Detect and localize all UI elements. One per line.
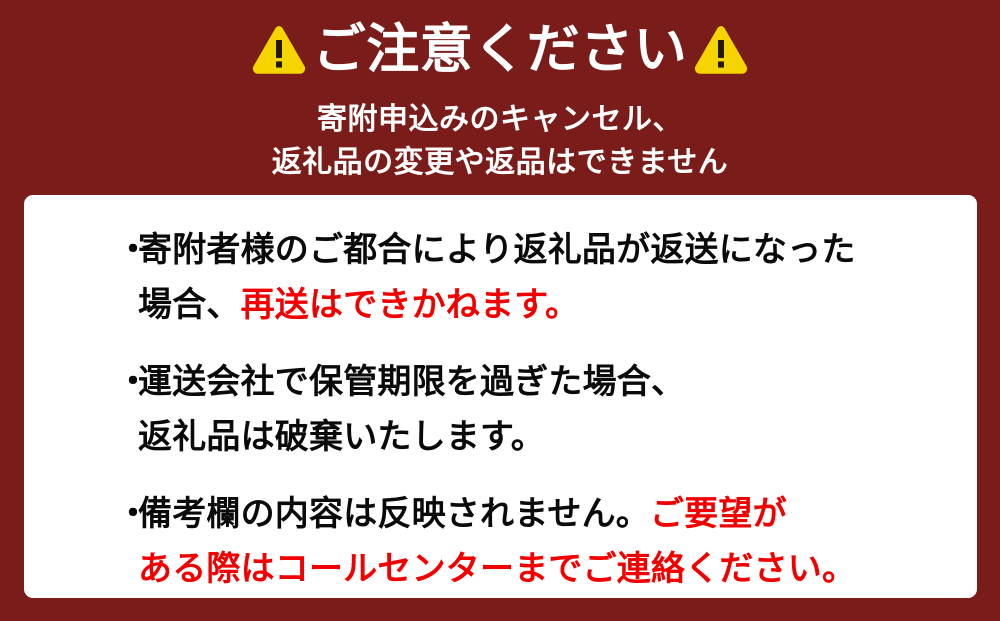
subtitle-line: 寄附申込みのキャンセル、	[0, 98, 1000, 141]
note-text-emphasis: ある際はコールセンターまでご連絡ください。	[138, 550, 856, 588]
note-text: 場合、	[138, 286, 241, 324]
note-line: 寄附者様のご都合により返礼品が返送になった	[138, 223, 937, 278]
subtitle-line: 返礼品の変更や返品はできません	[0, 141, 1000, 184]
bullet-marker: ・	[116, 223, 150, 278]
note-text-emphasis: ご要望が	[650, 495, 787, 533]
warning-triangle-icon	[693, 24, 749, 76]
page-title: ご注意ください	[313, 18, 688, 82]
note-line: ある際はコールセンターまでご連絡ください。	[138, 542, 937, 597]
note-text: 運送会社で保管期限を過ぎた場合、	[138, 363, 685, 401]
note-text-emphasis: 再送はできかねます。	[241, 286, 580, 324]
note-line: 運送会社で保管期限を過ぎた場合、	[138, 355, 937, 410]
note-text: 寄附者様のご都合により返礼品が返送になった	[138, 231, 856, 269]
notice-list: ・寄附者様のご都合により返礼品が返送になった場合、再送はできかねます。・運送会社…	[138, 223, 937, 597]
notice-card: ・寄附者様のご都合により返礼品が返送になった場合、再送はできかねます。・運送会社…	[24, 195, 977, 598]
list-item: ・備考欄の内容は反映されません。ご要望がある際はコールセンターまでご連絡ください…	[138, 487, 937, 597]
note-line: 返礼品は破棄いたします。	[138, 410, 937, 465]
warning-triangle-icon	[251, 24, 307, 76]
list-item: ・運送会社で保管期限を過ぎた場合、返礼品は破棄いたします。	[138, 355, 937, 465]
note-line: 備考欄の内容は反映されません。ご要望が	[138, 487, 937, 542]
bullet-marker: ・	[116, 487, 150, 542]
poster-header: ご注意ください 寄附申込みのキャンセル、 返礼品の変更や返品はできません	[0, 0, 1000, 195]
page-subtitle: 寄附申込みのキャンセル、 返礼品の変更や返品はできません	[0, 98, 1000, 184]
bullet-marker: ・	[116, 355, 150, 410]
note-line: 場合、再送はできかねます。	[138, 278, 937, 333]
notice-poster: ご注意ください 寄附申込みのキャンセル、 返礼品の変更や返品はできません ・寄附…	[0, 0, 1000, 621]
note-text: 備考欄の内容は反映されません。	[138, 495, 650, 533]
list-item: ・寄附者様のご都合により返礼品が返送になった場合、再送はできかねます。	[138, 223, 937, 333]
note-text: 返礼品は破棄いたします。	[138, 418, 545, 456]
title-row: ご注意ください	[0, 18, 1000, 82]
